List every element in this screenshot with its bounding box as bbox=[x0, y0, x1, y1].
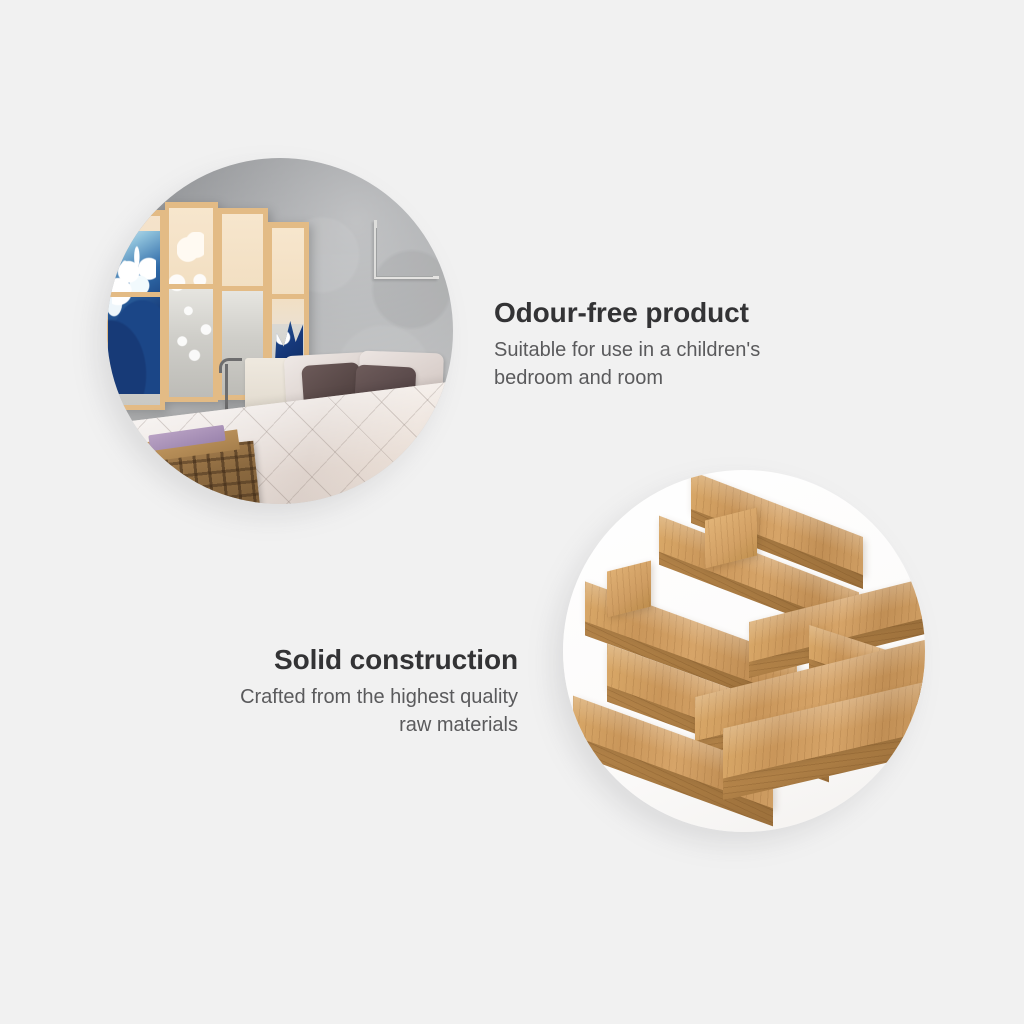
screen-panel-2 bbox=[165, 202, 219, 402]
wood-photo-circle bbox=[563, 470, 925, 832]
screen-panel-1 bbox=[107, 210, 165, 410]
bedroom-photo bbox=[107, 158, 453, 504]
floor-lamp-head bbox=[219, 358, 242, 373]
picture-frame-corner bbox=[374, 220, 439, 279]
panel-rail bbox=[272, 294, 304, 299]
panel-rail bbox=[108, 292, 160, 297]
bedroom-photo-circle bbox=[107, 158, 453, 504]
feature-description-line-1: Suitable for use in a children's bbox=[494, 339, 760, 361]
feature-description-line-1: Crafted from the highest quality bbox=[240, 686, 518, 708]
wood-photo bbox=[563, 470, 925, 832]
feature-description: Suitable for use in a children's bedroom… bbox=[494, 336, 914, 393]
feature-odour-free-text: Odour-free product Suitable for use in a… bbox=[494, 298, 914, 393]
feature-title: Solid construction bbox=[110, 645, 518, 676]
feature-description: Crafted from the highest quality raw mat… bbox=[110, 683, 518, 740]
wave-crest bbox=[112, 246, 156, 322]
panel-rail bbox=[169, 284, 214, 289]
panel-rail bbox=[222, 286, 262, 291]
panel-sky bbox=[272, 228, 304, 324]
infographic-canvas: Odour-free product Suitable for use in a… bbox=[0, 0, 1024, 1024]
feature-title: Odour-free product bbox=[494, 298, 914, 329]
feature-description-line-2: bedroom and room bbox=[494, 367, 663, 389]
sea-foam bbox=[169, 257, 214, 374]
floor-lamp-stand bbox=[225, 364, 228, 412]
feature-description-line-2: raw materials bbox=[399, 714, 518, 736]
feature-solid-construction-text: Solid construction Crafted from the high… bbox=[110, 645, 518, 740]
